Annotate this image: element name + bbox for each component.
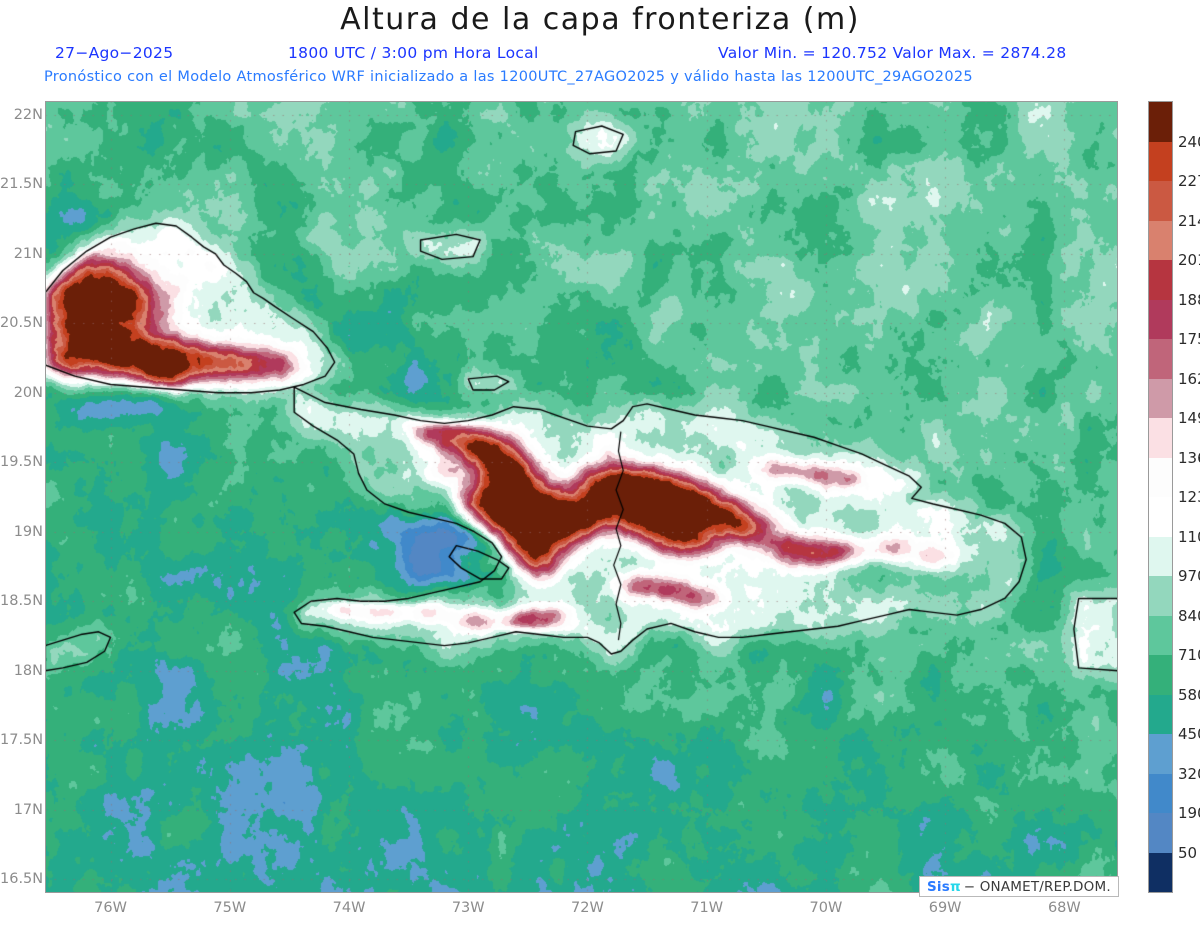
y-tick-label: 21N bbox=[0, 246, 44, 262]
colorbar-segment bbox=[1149, 576, 1172, 616]
x-tick-label: 75W bbox=[213, 900, 246, 916]
colorbar-tick-label: 840 bbox=[1178, 607, 1200, 625]
colorbar-tick-label: 1230 bbox=[1178, 488, 1200, 506]
attribution-agency: − ONAMET/REP.DOM. bbox=[964, 879, 1111, 895]
colorbar-segment bbox=[1149, 102, 1172, 142]
y-tick-label: 17N bbox=[0, 802, 44, 818]
colorbar-segment bbox=[1149, 695, 1172, 735]
y-tick-label: 20.5N bbox=[0, 315, 44, 331]
colorbar-segment bbox=[1149, 853, 1172, 893]
forecast-time: 1800 UTC / 3:00 pm Hora Local bbox=[288, 44, 539, 62]
y-tick-label: 19.5N bbox=[0, 454, 44, 470]
x-tick-label: 72W bbox=[571, 900, 604, 916]
colorbar-segment bbox=[1149, 774, 1172, 814]
x-tick-label: 74W bbox=[333, 900, 366, 916]
colorbar-segment bbox=[1149, 734, 1172, 774]
colorbar-tick-label: 580 bbox=[1178, 686, 1200, 704]
x-tick-label: 71W bbox=[690, 900, 723, 916]
x-tick-label: 76W bbox=[94, 900, 127, 916]
colorbar-segment bbox=[1149, 497, 1172, 537]
colorbar-tick-label: 450 bbox=[1178, 725, 1200, 743]
colorbar-segment bbox=[1149, 458, 1172, 498]
colorbar bbox=[1148, 101, 1173, 893]
y-tick-label: 17.5N bbox=[0, 732, 44, 748]
colorbar-tick-label: 2400 bbox=[1178, 133, 1200, 151]
colorbar-segment bbox=[1149, 142, 1172, 182]
colorbar-tick-label: 1360 bbox=[1178, 449, 1200, 467]
colorbar-tick-label: 320 bbox=[1178, 765, 1200, 783]
x-tick-label: 69W bbox=[929, 900, 962, 916]
colorbar-segment bbox=[1149, 379, 1172, 419]
colorbar-segment bbox=[1149, 813, 1172, 853]
y-tick-label: 18.5N bbox=[0, 593, 44, 609]
attribution-badge: Sisπ − ONAMET/REP.DOM. bbox=[919, 876, 1119, 897]
colorbar-tick-label: 2010 bbox=[1178, 251, 1200, 269]
page-title: Altura de la capa fronteriza (m) bbox=[0, 2, 1200, 37]
colorbar-tick-label: 1100 bbox=[1178, 528, 1200, 546]
value-min-max: Valor Min. = 120.752 Valor Max. = 2874.2… bbox=[718, 44, 1066, 62]
colorbar-segment bbox=[1149, 339, 1172, 379]
colorbar-segment bbox=[1149, 418, 1172, 458]
colorbar-segment bbox=[1149, 221, 1172, 261]
forecast-date: 27−Ago−2025 bbox=[55, 44, 173, 62]
x-tick-label: 73W bbox=[452, 900, 485, 916]
colorbar-tick-label: 970 bbox=[1178, 567, 1200, 585]
colorbar-tick-label: 1490 bbox=[1178, 409, 1200, 427]
y-tick-label: 19N bbox=[0, 524, 44, 540]
y-tick-label: 21.5N bbox=[0, 176, 44, 192]
colorbar-tick-label: 190 bbox=[1178, 804, 1200, 822]
forecast-description: Pronóstico con el Modelo Atmosférico WRF… bbox=[44, 69, 973, 85]
colorbar-tick-label: 2270 bbox=[1178, 172, 1200, 190]
colorbar-tick-label: 50 bbox=[1178, 844, 1197, 862]
colorbar-tick-label: 2140 bbox=[1178, 212, 1200, 230]
colorbar-tick-label: 1750 bbox=[1178, 330, 1200, 348]
x-tick-label: 68W bbox=[1048, 900, 1081, 916]
colorbar-tick-label: 1880 bbox=[1178, 291, 1200, 309]
weather-map-page: Altura de la capa fronteriza (m) 27−Ago−… bbox=[0, 0, 1200, 927]
y-tick-label: 20N bbox=[0, 385, 44, 401]
colorbar-segment bbox=[1149, 537, 1172, 577]
y-tick-label: 22N bbox=[0, 107, 44, 123]
colorbar-tick-label: 710 bbox=[1178, 646, 1200, 664]
colorbar-segment bbox=[1149, 655, 1172, 695]
brand-sis-text: Sis bbox=[927, 879, 950, 895]
colorbar-segment bbox=[1149, 616, 1172, 656]
x-tick-label: 70W bbox=[809, 900, 842, 916]
colorbar-tick-label: 1620 bbox=[1178, 370, 1200, 388]
y-axis-labels: 22N21.5N21N20.5N20N19.5N19N18.5N18N17.5N… bbox=[0, 0, 44, 927]
colorbar-segment bbox=[1149, 300, 1172, 340]
lat-lon-gridlines bbox=[45, 101, 1118, 893]
brand-pi-icon: π bbox=[950, 879, 960, 895]
y-tick-label: 16.5N bbox=[0, 871, 44, 887]
colorbar-segment bbox=[1149, 181, 1172, 221]
y-tick-label: 18N bbox=[0, 663, 44, 679]
map-plot-area[interactable] bbox=[45, 101, 1118, 893]
colorbar-segment bbox=[1149, 260, 1172, 300]
